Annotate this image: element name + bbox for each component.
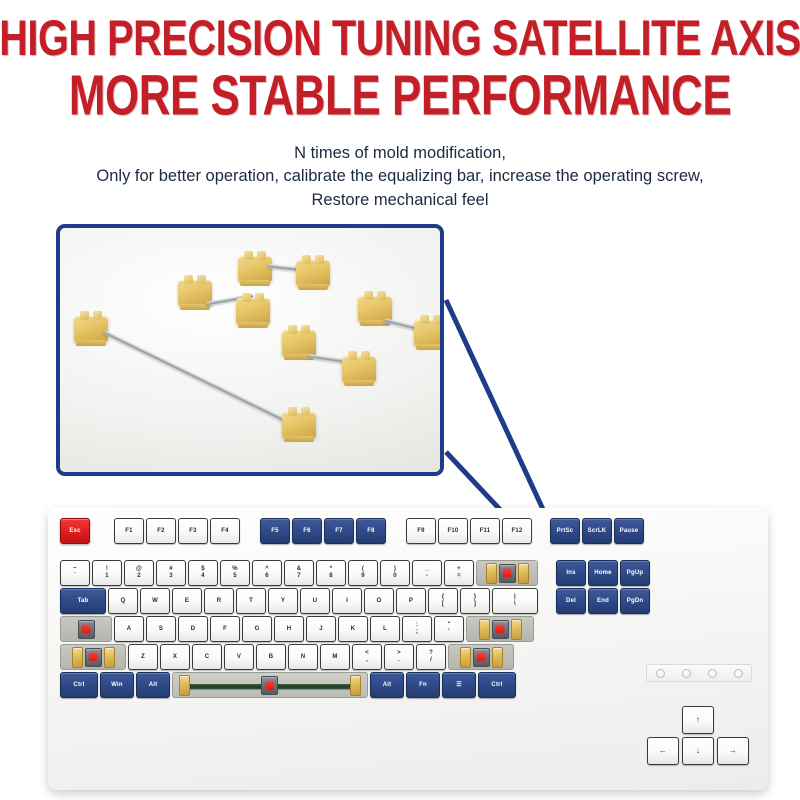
key-z[interactable]: Z bbox=[128, 644, 158, 670]
key-e[interactable]: E bbox=[172, 588, 202, 614]
keyboard-plate: Esc F1 F2 F3 F4 F5 F6 F7 F8 F9 F10 F11 F… bbox=[60, 518, 756, 776]
key-backslash[interactable]: | \ bbox=[492, 588, 538, 614]
key-f1[interactable]: F1 bbox=[114, 518, 144, 544]
subtitle-line-3: Restore mechanical feel bbox=[0, 189, 800, 212]
spacer bbox=[540, 588, 554, 614]
product-marketing-image: HIGH PRECISION TUNING SATELLITE AXIS MOR… bbox=[0, 0, 800, 800]
spacer bbox=[242, 518, 258, 544]
mechanical-keyboard: Esc F1 F2 F3 F4 F5 F6 F7 F8 F9 F10 F11 F… bbox=[48, 508, 768, 790]
key-f4[interactable]: F4 bbox=[210, 518, 240, 544]
stabilizer-housing bbox=[414, 320, 444, 346]
key-ctrl-left[interactable]: Ctrl bbox=[60, 672, 98, 698]
key-arrow-left[interactable]: ← bbox=[647, 737, 679, 765]
key-m[interactable]: M bbox=[320, 644, 350, 670]
key-semicolon[interactable]: : ; bbox=[402, 616, 432, 642]
key-period[interactable]: > . bbox=[384, 644, 414, 670]
key-pgdn[interactable]: PgDn bbox=[620, 588, 650, 614]
headline-line-2: MORE STABLE PERFORMANCE bbox=[0, 67, 800, 126]
stabilizer-icon bbox=[179, 675, 190, 696]
key-home[interactable]: Home bbox=[588, 560, 618, 586]
row-qwerty: Tab Q W E R T Y U I O P { [ } ] | \ Del … bbox=[60, 588, 756, 614]
key-t[interactable]: T bbox=[236, 588, 266, 614]
key-g[interactable]: G bbox=[242, 616, 272, 642]
key-ins[interactable]: Ins bbox=[556, 560, 586, 586]
key-f10[interactable]: F10 bbox=[438, 518, 468, 544]
key-arrow-up[interactable]: ↑ bbox=[682, 706, 714, 734]
switch-icon bbox=[473, 648, 490, 667]
key-f2[interactable]: F2 bbox=[146, 518, 176, 544]
key-esc[interactable]: Esc bbox=[60, 518, 90, 544]
key-f8[interactable]: F8 bbox=[356, 518, 386, 544]
stabilizer-housing bbox=[342, 356, 376, 382]
key-v[interactable]: V bbox=[224, 644, 254, 670]
satellite-axis-stabilizer-photo bbox=[56, 224, 444, 476]
key-h[interactable]: H bbox=[274, 616, 304, 642]
key-a[interactable]: A bbox=[114, 616, 144, 642]
stabilizer-wire bbox=[103, 330, 289, 423]
key-7[interactable]: & 7 bbox=[284, 560, 314, 586]
key-u[interactable]: U bbox=[300, 588, 330, 614]
key-arrow-right[interactable]: → bbox=[717, 737, 749, 765]
key-d[interactable]: D bbox=[178, 616, 208, 642]
key-bracket-left[interactable]: { [ bbox=[428, 588, 458, 614]
key-pgup[interactable]: PgUp bbox=[620, 560, 650, 586]
key-o[interactable]: O bbox=[364, 588, 394, 614]
key-equals[interactable]: + = bbox=[444, 560, 474, 586]
spacer bbox=[388, 518, 404, 544]
key-quote[interactable]: " ' bbox=[434, 616, 464, 642]
key-tab[interactable]: Tab bbox=[60, 588, 106, 614]
subtitle-line-2: Only for better operation, calibrate the… bbox=[0, 165, 800, 188]
key-j[interactable]: J bbox=[306, 616, 336, 642]
key-w[interactable]: W bbox=[140, 588, 170, 614]
stabilizer-icon bbox=[479, 619, 490, 640]
key-del[interactable]: Del bbox=[556, 588, 586, 614]
led-indicator-icon bbox=[734, 669, 743, 678]
key-f3[interactable]: F3 bbox=[178, 518, 208, 544]
subtitle-block: N times of mold modification, Only for b… bbox=[0, 142, 800, 212]
key-i[interactable]: I bbox=[332, 588, 362, 614]
headline-block: HIGH PRECISION TUNING SATELLITE AXIS MOR… bbox=[0, 14, 800, 112]
key-end[interactable]: End bbox=[588, 588, 618, 614]
key-r[interactable]: R bbox=[204, 588, 234, 614]
stabilizer-housing bbox=[282, 412, 316, 438]
key-scrlk[interactable]: ScrLK bbox=[582, 518, 612, 544]
stabilizer-housing bbox=[282, 330, 316, 356]
headline-line-1: HIGH PRECISION TUNING SATELLITE AXIS bbox=[0, 14, 800, 66]
key-fn[interactable]: Fn bbox=[406, 672, 440, 698]
key-alt-left[interactable]: Alt bbox=[136, 672, 170, 698]
subtitle-line-1: N times of mold modification, bbox=[0, 142, 800, 165]
row-home: A S D F G H J K L : ; " ' bbox=[60, 616, 756, 642]
stabilizer-housing bbox=[74, 316, 108, 342]
switch-icon bbox=[492, 620, 509, 639]
spacer bbox=[540, 560, 554, 586]
key-f9[interactable]: F9 bbox=[406, 518, 436, 544]
stabilizer-housing bbox=[296, 260, 330, 286]
key-8[interactable]: * 8 bbox=[316, 560, 346, 586]
key-5[interactable]: % 5 bbox=[220, 560, 250, 586]
socket-capslock-removed-keycap[interactable] bbox=[60, 616, 112, 642]
switch-icon bbox=[78, 620, 95, 639]
key-9[interactable]: ( 9 bbox=[348, 560, 378, 586]
row-function: Esc F1 F2 F3 F4 F5 F6 F7 F8 F9 F10 F11 F… bbox=[60, 518, 756, 548]
key-bracket-right[interactable]: } ] bbox=[460, 588, 490, 614]
key-f6[interactable]: F6 bbox=[292, 518, 322, 544]
key-f12[interactable]: F12 bbox=[502, 518, 532, 544]
switch-icon bbox=[499, 564, 516, 583]
led-indicator-icon bbox=[708, 669, 717, 678]
socket-spacebar-removed-keycap[interactable] bbox=[172, 672, 368, 698]
key-q[interactable]: Q bbox=[108, 588, 138, 614]
switch-icon bbox=[85, 648, 102, 667]
key-2[interactable]: @ 2 bbox=[124, 560, 154, 586]
spacer bbox=[92, 518, 112, 544]
stabilizer-icon bbox=[486, 563, 497, 584]
key-3[interactable]: # 3 bbox=[156, 560, 186, 586]
led-indicator-icon bbox=[656, 669, 665, 678]
key-prtsc[interactable]: PrtSc bbox=[550, 518, 580, 544]
switch-icon bbox=[261, 676, 278, 695]
stabilizer-set-right bbox=[358, 296, 444, 356]
key-k[interactable]: K bbox=[338, 616, 368, 642]
key-slash[interactable]: ? / bbox=[416, 644, 446, 670]
indicator-led-strip bbox=[646, 664, 752, 682]
stabilizer-icon bbox=[72, 647, 83, 668]
key-x[interactable]: X bbox=[160, 644, 190, 670]
key-c[interactable]: C bbox=[192, 644, 222, 670]
key-pause[interactable]: Pause bbox=[614, 518, 644, 544]
key-l[interactable]: L bbox=[370, 616, 400, 642]
key-4[interactable]: $ 4 bbox=[188, 560, 218, 586]
key-ctrl-right[interactable]: Ctrl bbox=[478, 672, 516, 698]
stabilizer-icon bbox=[511, 619, 522, 640]
key-win[interactable]: Win bbox=[100, 672, 134, 698]
key-6[interactable]: ^ 6 bbox=[252, 560, 282, 586]
key-f7[interactable]: F7 bbox=[324, 518, 354, 544]
key-p[interactable]: P bbox=[396, 588, 426, 614]
stabilizer-icon bbox=[460, 647, 471, 668]
socket-enter-removed-keycap[interactable] bbox=[466, 616, 534, 642]
key-arrow-down[interactable]: ↓ bbox=[682, 737, 714, 765]
row-number: ~ ` ! 1 @ 2 # 3 $ 4 % 5 ^ 6 & 7 * 8 ( 9 … bbox=[60, 560, 756, 586]
key-0[interactable]: ) 0 bbox=[380, 560, 410, 586]
key-1[interactable]: ! 1 bbox=[92, 560, 122, 586]
key-minus[interactable]: _ - bbox=[412, 560, 442, 586]
spacer bbox=[534, 518, 548, 544]
led-indicator-icon bbox=[682, 669, 691, 678]
stabilizer-housing bbox=[236, 298, 270, 324]
key-backtick[interactable]: ~ ` bbox=[60, 560, 90, 586]
socket-backspace-removed-keycap[interactable] bbox=[476, 560, 538, 586]
stabilizer-icon bbox=[350, 675, 361, 696]
key-b[interactable]: B bbox=[256, 644, 286, 670]
key-n[interactable]: N bbox=[288, 644, 318, 670]
stabilizer-set-mid-left bbox=[178, 280, 278, 335]
key-f5[interactable]: F5 bbox=[260, 518, 290, 544]
arrow-key-cluster: ↑ ← ↓ → bbox=[646, 706, 752, 768]
key-y[interactable]: Y bbox=[268, 588, 298, 614]
socket-right-shift-removed-keycap[interactable] bbox=[448, 644, 514, 670]
stabilizer-icon bbox=[104, 647, 115, 668]
stabilizer-icon bbox=[492, 647, 503, 668]
key-f11[interactable]: F11 bbox=[470, 518, 500, 544]
stabilizer-housing bbox=[238, 256, 272, 282]
key-comma[interactable]: < , bbox=[352, 644, 382, 670]
key-s[interactable]: S bbox=[146, 616, 176, 642]
stabilizer-icon bbox=[518, 563, 529, 584]
key-f[interactable]: F bbox=[210, 616, 240, 642]
stabilizer-photo-background bbox=[60, 228, 440, 472]
socket-left-shift-removed-keycap[interactable] bbox=[60, 644, 126, 670]
key-alt-right[interactable]: Alt bbox=[370, 672, 404, 698]
key-menu[interactable]: ☰ bbox=[442, 672, 476, 698]
